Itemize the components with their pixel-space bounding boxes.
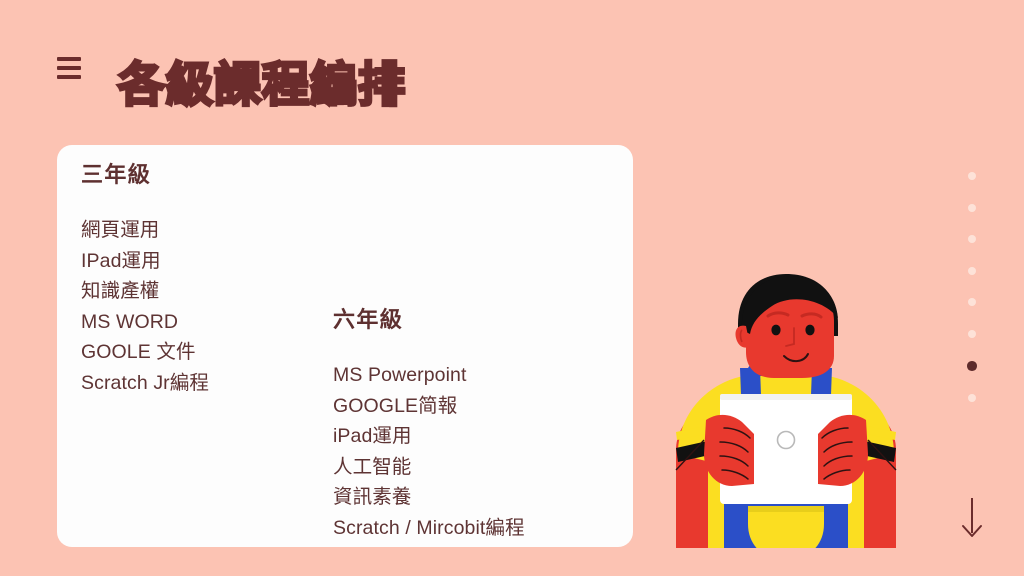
grade-subject-list: 網頁運用 IPad運用 知識產權 MS WORD GOOLE 文件 Scratc…	[81, 215, 209, 399]
list-item: MS Powerpoint	[333, 360, 525, 391]
grade-block-grade6: 六年級 MS Powerpoint GOOGLE简報 iPad運用 人工智能 資…	[333, 302, 525, 544]
list-item: 知識產權	[81, 276, 209, 307]
grade-subject-list: MS Powerpoint GOOGLE简報 iPad運用 人工智能 資訊素養 …	[333, 360, 525, 544]
list-item: MS WORD	[81, 307, 209, 338]
arrow-down-icon[interactable]	[959, 497, 985, 539]
nav-dot-3[interactable]	[968, 235, 976, 243]
student-with-tablet-illustration	[662, 272, 910, 548]
nav-dot-2[interactable]	[968, 204, 976, 212]
list-item: Scratch Jr編程	[81, 368, 209, 399]
curriculum-card: 三年級 網頁運用 IPad運用 知識產權 MS WORD GOOLE 文件 Sc…	[57, 145, 633, 547]
page-title: 各級課程編排	[118, 60, 406, 110]
list-item: 資訊素養	[333, 482, 525, 513]
hamburger-bar-3	[57, 75, 81, 79]
nav-dot-5[interactable]	[968, 298, 976, 306]
slide-navigation-dots[interactable]	[964, 172, 980, 402]
list-item: Scratch / Mircobit編程	[333, 513, 525, 544]
grade-heading: 六年級	[333, 302, 525, 334]
hamburger-bar-1	[57, 57, 81, 61]
nav-dot-4[interactable]	[968, 267, 976, 275]
nav-dot-1[interactable]	[968, 172, 976, 180]
list-item: GOOGLE简報	[333, 391, 525, 422]
list-item: GOOLE 文件	[81, 337, 209, 368]
list-item: 人工智能	[333, 452, 525, 483]
list-item: 網頁運用	[81, 215, 209, 246]
list-item: IPad運用	[81, 246, 209, 277]
nav-dot-7-active[interactable]	[967, 361, 977, 371]
nav-dot-6[interactable]	[968, 330, 976, 338]
nav-dot-8[interactable]	[968, 394, 976, 402]
list-item: iPad運用	[333, 421, 525, 452]
grade-heading: 三年級	[81, 157, 209, 189]
hamburger-bar-2	[57, 66, 81, 70]
hamburger-menu-icon[interactable]	[57, 57, 81, 79]
grade-block-grade3: 三年級 網頁運用 IPad運用 知識產權 MS WORD GOOLE 文件 Sc…	[81, 157, 209, 399]
